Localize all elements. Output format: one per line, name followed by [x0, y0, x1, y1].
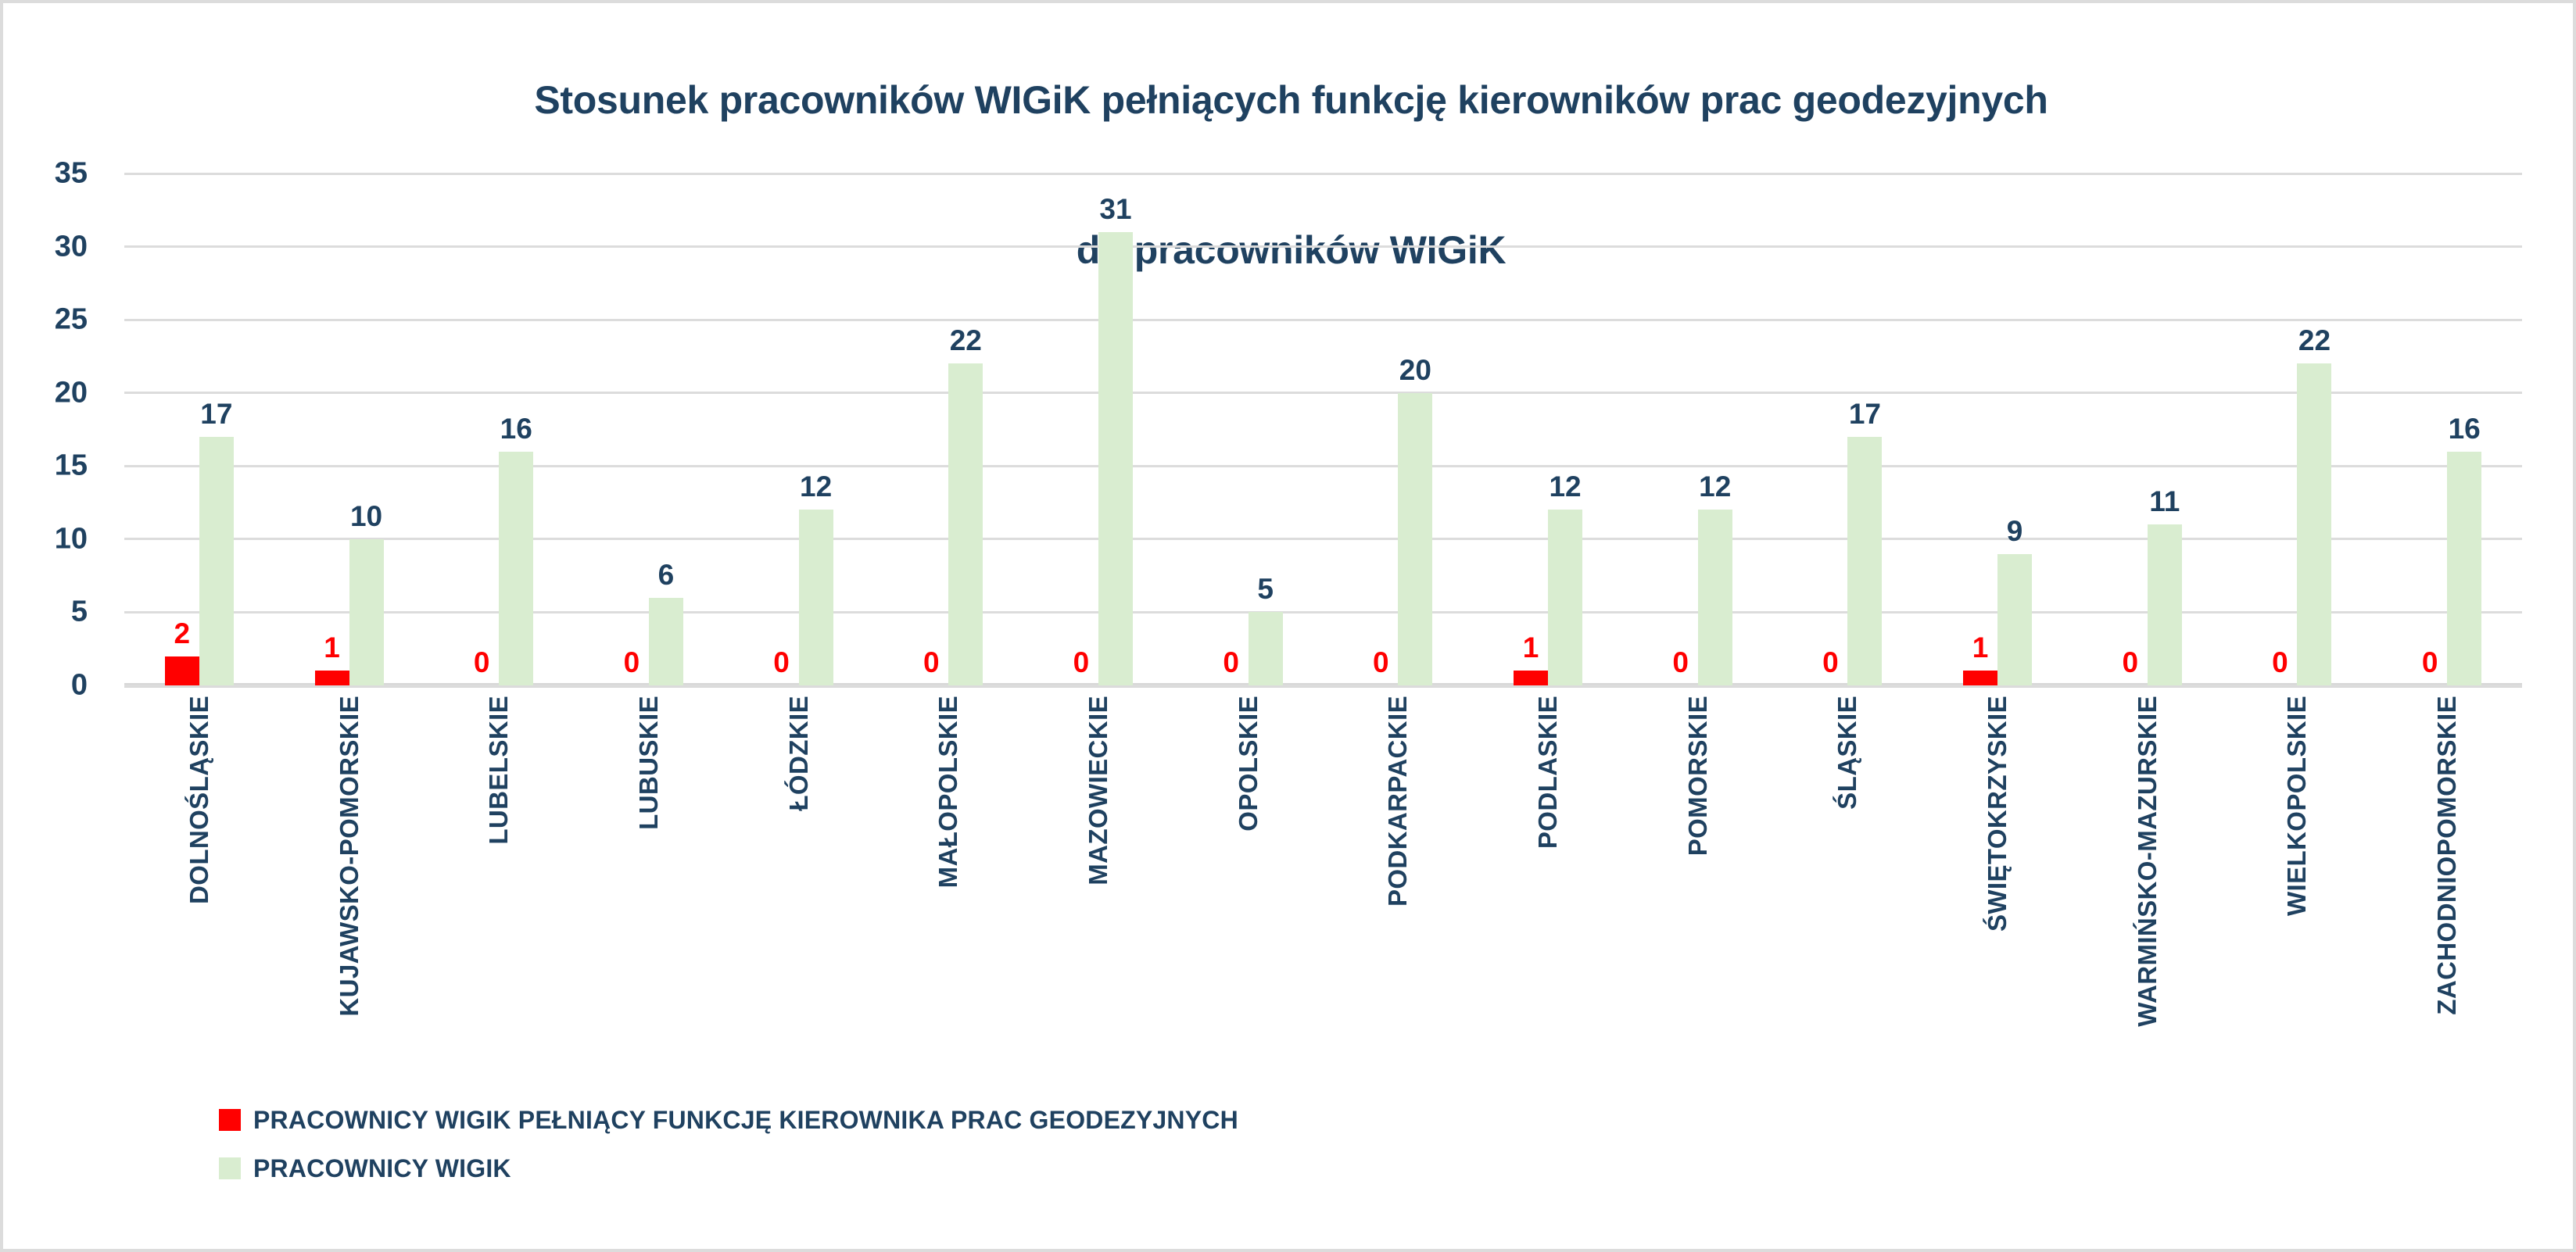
bar-value-label: 0: [1073, 646, 1090, 679]
x-axis-label-slot: LUBUSKIE: [574, 696, 724, 1024]
x-axis-label-slot: POMORSKIE: [1623, 696, 1773, 1024]
bar-pracownicy[interactable]: 16: [499, 452, 533, 685]
legend-item[interactable]: PRACOWNICY WIGIK: [219, 1144, 1238, 1193]
x-axis-label-slot: LUBELSKIE: [424, 696, 574, 1024]
bar-pair: 19: [1922, 173, 2073, 685]
bar-pair: 020: [1324, 173, 1474, 685]
x-axis-label-slot: WIELKOPOLSKIE: [2223, 696, 2373, 1024]
bar-pracownicy[interactable]: 5: [1249, 612, 1283, 685]
x-axis-category-label: MAŁOPOLSKIE: [933, 696, 963, 888]
bar-group: 05: [1173, 173, 1324, 685]
bar-value-label: 17: [200, 398, 232, 431]
bar-value-label: 0: [624, 646, 640, 679]
bar-value-label: 1: [324, 631, 340, 664]
x-axis-label-slot: PODKARPACKIE: [1324, 696, 1474, 1024]
chart-container: Stosunek pracowników WIGiK pełniących fu…: [0, 0, 2576, 1252]
bar-value-label: 20: [1399, 354, 1431, 387]
plot-area: 2171100160601202203105020112012017190110…: [124, 173, 2522, 685]
bar-pracownicy[interactable]: 12: [799, 510, 833, 685]
y-axis-tick-label: 5: [2, 596, 88, 629]
bar-pracownicy[interactable]: 17: [199, 437, 234, 685]
bar-value-label: 11: [2149, 485, 2180, 518]
bar-value-label: 0: [1373, 646, 1389, 679]
bar-value-label: 0: [2272, 646, 2288, 679]
bar-pracownicy[interactable]: 10: [349, 539, 384, 685]
bar-value-label: 12: [1549, 470, 1581, 503]
bar-group: 012: [724, 173, 874, 685]
bar-pracownicy[interactable]: 22: [948, 363, 983, 685]
bar-value-label: 0: [1672, 646, 1689, 679]
x-axis-category-label: OPOLSKIE: [1234, 696, 1263, 832]
bar-value-label: 0: [923, 646, 940, 679]
bar-value-label: 2: [174, 617, 191, 650]
bar-group: 19: [1922, 173, 2073, 685]
bar-group: 112: [1473, 173, 1623, 685]
bar-value-label: 10: [350, 500, 382, 533]
bar-value-label: 17: [1849, 398, 1881, 431]
bar-value-label: 6: [658, 559, 675, 592]
bar-value-label: 1: [1972, 631, 1989, 664]
bar-pracownicy[interactable]: 22: [2297, 363, 2331, 685]
y-axis-tick-label: 10: [2, 522, 88, 556]
bar-value-label: 0: [2122, 646, 2138, 679]
bar-pracownicy[interactable]: 11: [2148, 524, 2182, 685]
bar-kierownicy[interactable]: 2: [165, 656, 199, 685]
bar-pair: 022: [873, 173, 1023, 685]
x-axis-category-label: WARMIŃSKO-MAZURSKIE: [2133, 696, 2162, 1027]
bar-pair: 022: [2223, 173, 2373, 685]
bar-group: 031: [1023, 173, 1173, 685]
y-axis-tick-label: 30: [2, 230, 88, 263]
bar-kierownicy[interactable]: 1: [315, 671, 349, 685]
legend-label: PRACOWNICY WIGIK: [253, 1154, 511, 1183]
x-axis-category-label: PODKARPACKIE: [1383, 696, 1413, 907]
bar-pracownicy[interactable]: 12: [1698, 510, 1732, 685]
y-axis: 35302520151050: [3, 173, 105, 685]
bar-value-label: 5: [1257, 573, 1274, 606]
bar-value-label: 12: [1699, 470, 1731, 503]
y-axis-tick-label: 15: [2, 449, 88, 483]
bar-pracownicy[interactable]: 6: [649, 598, 683, 685]
bar-pair: 017: [1773, 173, 1923, 685]
bar-value-label: 16: [500, 413, 532, 445]
x-axis-category-label: ŚLĄSKIE: [1833, 696, 1862, 810]
bar-pracownicy[interactable]: 31: [1098, 232, 1133, 685]
bar-pair: 011: [2073, 173, 2223, 685]
bar-pair: 05: [1173, 173, 1324, 685]
bar-value-label: 22: [950, 324, 982, 357]
bar-group: 012: [1623, 173, 1773, 685]
bar-group: 110: [274, 173, 425, 685]
bar-value-label: 9: [2007, 515, 2023, 548]
bar-pair: 112: [1473, 173, 1623, 685]
x-axis-label-slot: OPOLSKIE: [1173, 696, 1324, 1024]
bar-value-label: 22: [2298, 324, 2331, 357]
bar-value-label: 16: [2449, 413, 2481, 445]
x-axis-label-slot: PODLASKIE: [1473, 696, 1623, 1024]
bar-group: 011: [2073, 173, 2223, 685]
x-axis-category-label: DOLNOŚLĄSKIE: [185, 696, 214, 904]
bar-pair: 012: [1623, 173, 1773, 685]
x-axis-category-label: LUBELSKIE: [484, 696, 514, 845]
x-axis-category-label: ZACHODNIOPOMORSKIE: [2432, 696, 2462, 1015]
bar-value-label: 0: [1822, 646, 1839, 679]
y-axis-tick-label: 20: [2, 376, 88, 410]
bar-group: 217: [124, 173, 274, 685]
y-axis-tick-label: 25: [2, 303, 88, 337]
bar-value-label: 0: [474, 646, 490, 679]
legend-swatch-icon: [219, 1157, 241, 1179]
bar-group: 06: [574, 173, 724, 685]
bar-pair: 110: [274, 173, 425, 685]
x-axis-label-slot: ŚLĄSKIE: [1773, 696, 1923, 1024]
x-axis-label-slot: KUJAWSKO-POMORSKIE: [274, 696, 425, 1024]
x-axis-label-slot: ŁÓDZKIE: [724, 696, 874, 1024]
x-axis-category-label: POMORSKIE: [1683, 696, 1713, 856]
bar-pair: 031: [1023, 173, 1173, 685]
bar-group: 016: [424, 173, 574, 685]
x-axis-label-slot: ŚWIĘTOKRZYSKIE: [1922, 696, 2073, 1024]
bar-pair: 016: [2372, 173, 2522, 685]
bar-kierownicy[interactable]: 1: [1514, 671, 1548, 685]
bar-value-label: 0: [1223, 646, 1239, 679]
bar-group: 017: [1773, 173, 1923, 685]
bar-value-label: 12: [800, 470, 832, 503]
chart-title-line-1: Stosunek pracowników WIGiK pełniących fu…: [534, 78, 2048, 122]
bar-group: 020: [1324, 173, 1474, 685]
bar-value-label: 31: [1099, 193, 1131, 226]
x-axis-label-slot: MAZOWIECKIE: [1023, 696, 1173, 1024]
x-axis-category-label: WIELKOPOLSKIE: [2282, 696, 2312, 916]
bar-pracownicy[interactable]: 9: [1997, 554, 2032, 685]
bar-pair: 06: [574, 173, 724, 685]
bar-kierownicy[interactable]: 1: [1963, 671, 1997, 685]
bar-pracownicy[interactable]: 17: [1847, 437, 1882, 685]
bar-pair: 217: [124, 173, 274, 685]
bar-value-label: 0: [2422, 646, 2438, 679]
chart-legend: PRACOWNICY WIGIK PEŁNIĄCY FUNKCJĘ KIEROW…: [219, 1096, 1238, 1193]
legend-swatch-icon: [219, 1109, 241, 1131]
x-axis-label-slot: WARMIŃSKO-MAZURSKIE: [2073, 696, 2223, 1024]
bar-pracownicy[interactable]: 20: [1398, 393, 1432, 685]
x-axis-category-label: MAZOWIECKIE: [1084, 696, 1113, 885]
x-axis-category-label: ŚWIĘTOKRZYSKIE: [1983, 696, 2012, 932]
bar-value-label: 0: [773, 646, 790, 679]
x-axis-category-label: ŁÓDZKIE: [784, 696, 814, 811]
bar-pair: 012: [724, 173, 874, 685]
bar-pair: 016: [424, 173, 574, 685]
x-axis-label-slot: ZACHODNIOPOMORSKIE: [2372, 696, 2522, 1024]
y-axis-tick-label: 35: [2, 157, 88, 191]
y-axis-tick-label: 0: [2, 669, 88, 703]
x-axis-category-label: PODLASKIE: [1533, 696, 1563, 849]
legend-label: PRACOWNICY WIGIK PEŁNIĄCY FUNKCJĘ KIEROW…: [253, 1106, 1238, 1135]
x-axis-labels: DOLNOŚLĄSKIEKUJAWSKO-POMORSKIELUBELSKIEL…: [124, 696, 2522, 1024]
x-axis-category-label: LUBUSKIE: [634, 696, 664, 830]
x-axis-label-slot: DOLNOŚLĄSKIE: [124, 696, 274, 1024]
bar-group: 016: [2372, 173, 2522, 685]
x-axis-category-label: KUJAWSKO-POMORSKIE: [335, 696, 364, 1017]
bar-value-label: 1: [1523, 631, 1539, 664]
bar-pracownicy[interactable]: 16: [2447, 452, 2481, 685]
bar-group: 022: [2223, 173, 2373, 685]
x-axis-label-slot: MAŁOPOLSKIE: [873, 696, 1023, 1024]
bar-group: 022: [873, 173, 1023, 685]
bar-pracownicy[interactable]: 12: [1548, 510, 1582, 685]
legend-item[interactable]: PRACOWNICY WIGIK PEŁNIĄCY FUNKCJĘ KIEROW…: [219, 1096, 1238, 1144]
